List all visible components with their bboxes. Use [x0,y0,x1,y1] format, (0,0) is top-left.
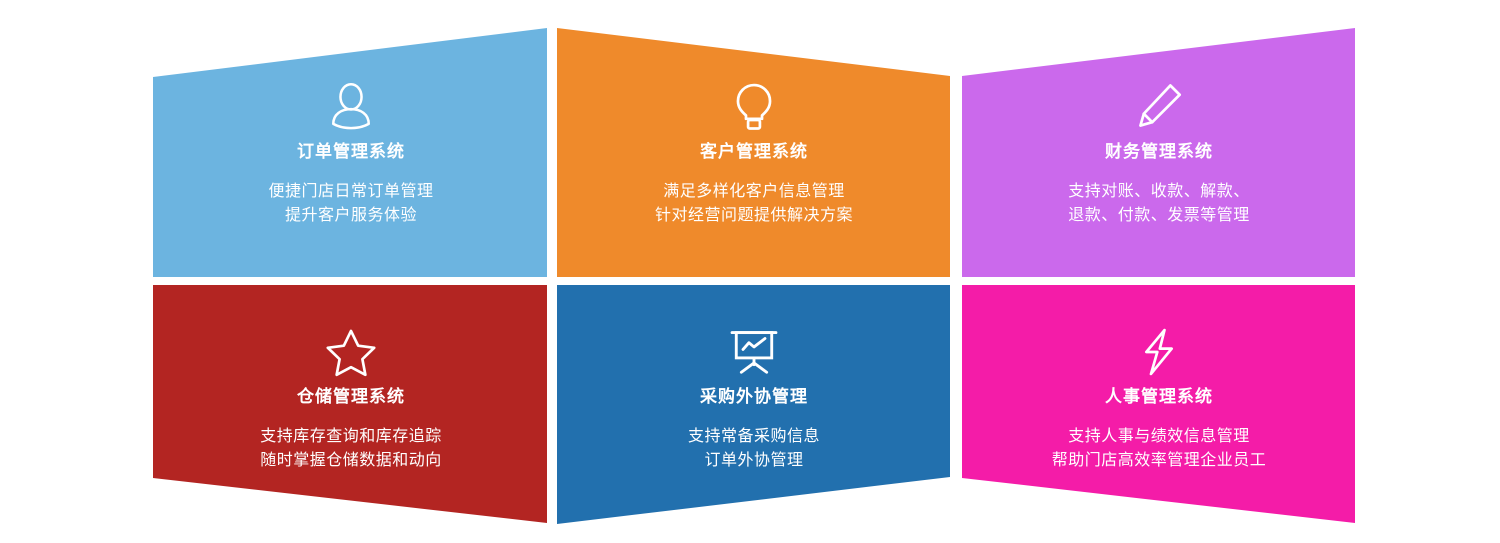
feature-panels-graphic: 订单管理系统 便捷门店日常订单管理 提升客户服务体验 客户管理系统 满足多样化客… [0,0,1500,543]
panel-shape-order-management[interactable] [153,28,547,277]
panel-shape-warehouse-management[interactable] [153,285,547,523]
panel-shape-customer-management[interactable] [557,28,950,277]
panel-shape-purchase-outsourcing[interactable] [557,285,950,524]
panel-shape-finance-management[interactable] [962,28,1355,277]
panel-shapes-layer [0,0,1500,543]
panel-shape-hr-management[interactable] [962,285,1355,523]
